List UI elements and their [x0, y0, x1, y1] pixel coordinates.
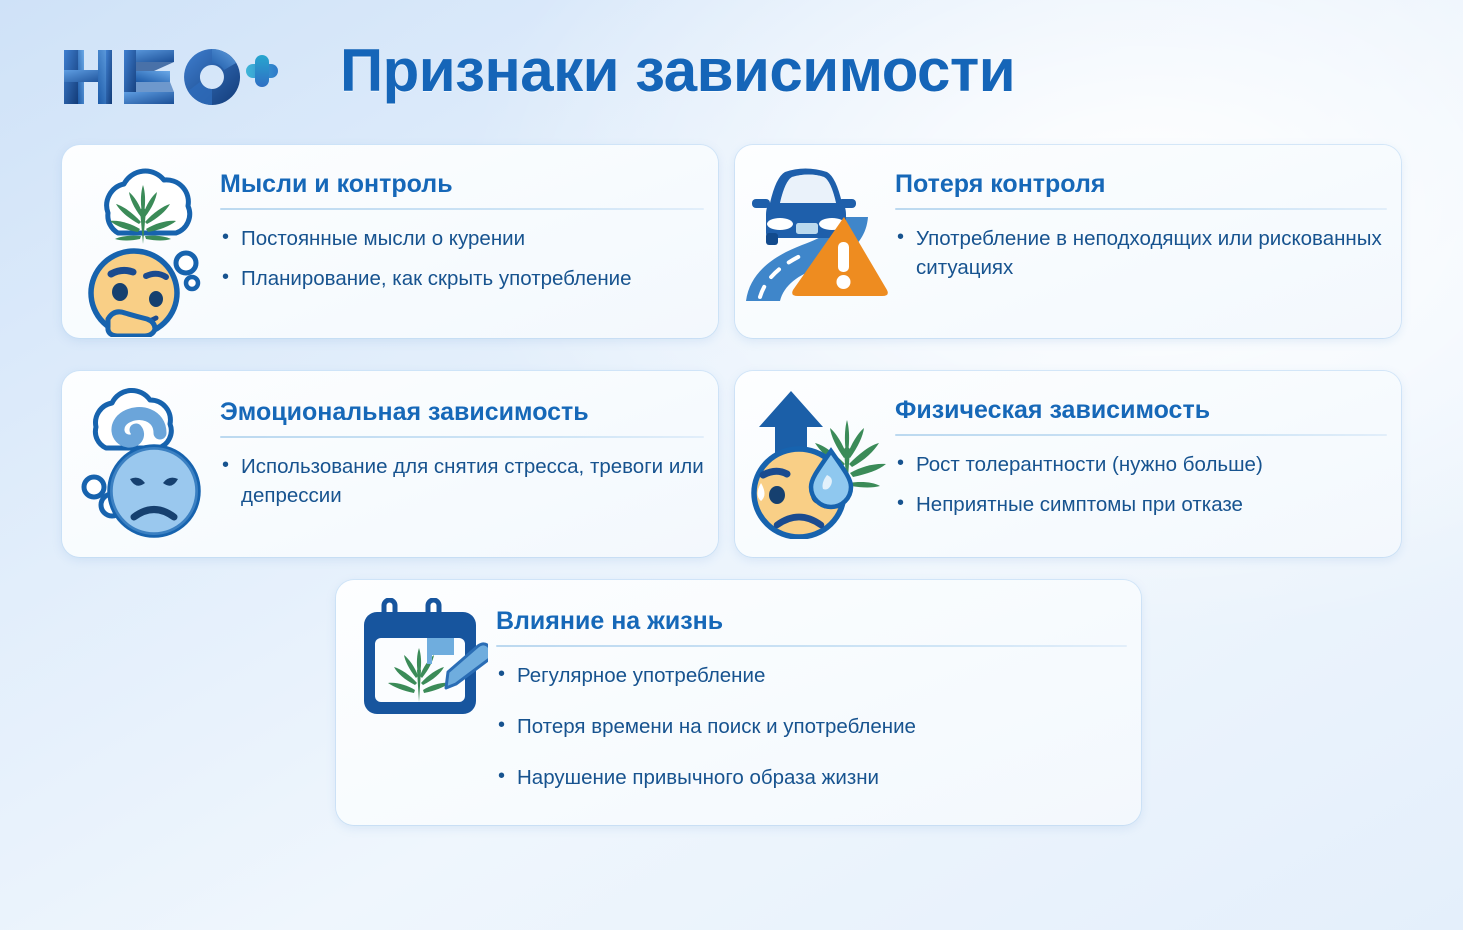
card-body: Влияние на жизнь Регулярное употребление…	[496, 580, 1141, 792]
bullet-list: Использование для снятия стресса, тревог…	[220, 452, 704, 510]
heading-divider	[895, 208, 1387, 210]
page-title: Признаки зависимости	[340, 36, 1015, 105]
neo-plus-logo-mark	[62, 44, 278, 110]
card-heading: Потеря контроля	[895, 171, 1387, 199]
list-item: Постоянные мысли о курении	[220, 224, 704, 253]
heading-divider	[220, 436, 704, 438]
card-body: Физическая зависимость Рост толерантност…	[895, 371, 1401, 519]
card-physical-dependence: Физическая зависимость Рост толерантност…	[735, 371, 1401, 557]
card-body: Эмоциональная зависимость Использование …	[220, 371, 718, 510]
card-loss-of-control: Потеря контроля Употребление в неподходя…	[735, 145, 1401, 338]
list-item: Использование для снятия стресса, тревог…	[220, 452, 704, 510]
list-item: Регулярное употребление	[496, 661, 1127, 690]
heading-divider	[496, 645, 1127, 647]
card-body: Мысли и контроль Постоянные мысли о куре…	[220, 145, 718, 293]
car-on-winding-road-with-warning-triangle-icon	[735, 145, 895, 309]
calendar-with-cannabis-leaf-and-pencil-icon	[336, 580, 496, 720]
header: Признаки зависимости	[0, 0, 1463, 140]
card-body: Потеря контроля Употребление в неподходя…	[895, 145, 1401, 282]
card-heading: Мысли и контроль	[220, 171, 704, 199]
list-item: Потеря времени на поиск и употребление	[496, 712, 1127, 741]
bullet-list: Употребление в неподходящих или рискован…	[895, 224, 1387, 282]
heading-divider	[220, 208, 704, 210]
heading-divider	[895, 434, 1387, 436]
card-thoughts-and-control: Мысли и контроль Постоянные мысли о куре…	[62, 145, 718, 338]
up-arrow-cannabis-leaf-sweating-face-icon	[735, 371, 895, 539]
blue-sad-face-with-thought-bubble-icon	[62, 371, 220, 539]
card-emotional-dependence: Эмоциональная зависимость Использование …	[62, 371, 718, 557]
card-heading: Физическая зависимость	[895, 397, 1387, 425]
card-life-impact: Влияние на жизнь Регулярное употребление…	[336, 580, 1141, 825]
list-item: Нарушение привычного образа жизни	[496, 763, 1127, 792]
bullet-list: Постоянные мысли о курении Планирование,…	[220, 224, 704, 293]
infographic-page: Признаки зависимости	[0, 0, 1463, 930]
bullet-list: Регулярное употребление Потеря времени н…	[496, 661, 1127, 792]
card-heading: Влияние на жизнь	[496, 608, 1127, 636]
thinking-face-with-cannabis-thought-bubble-icon	[62, 145, 220, 337]
list-item: Неприятные симптомы при отказе	[895, 490, 1387, 519]
list-item: Планирование, как скрыть употребление	[220, 264, 704, 293]
bullet-list: Рост толерантности (нужно больше) Неприя…	[895, 450, 1387, 519]
card-heading: Эмоциональная зависимость	[220, 399, 704, 427]
neo-plus-logo	[62, 44, 278, 110]
list-item: Употребление в неподходящих или рискован…	[895, 224, 1387, 282]
list-item: Рост толерантности (нужно больше)	[895, 450, 1387, 479]
